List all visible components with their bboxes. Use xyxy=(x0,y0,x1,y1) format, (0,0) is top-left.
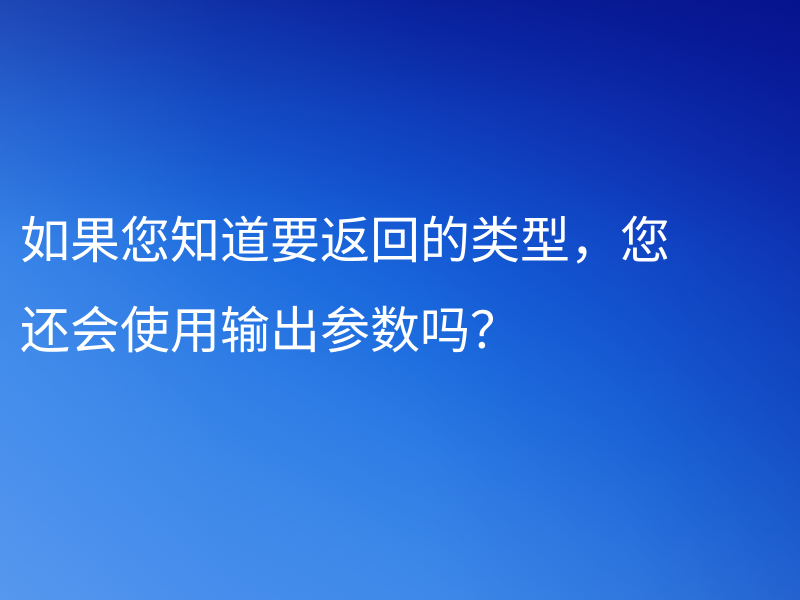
question-card: 如果您知道要返回的类型，您 还会使用输出参数吗？ xyxy=(0,0,800,600)
headline-line-2: 还会使用输出参数吗？ xyxy=(20,286,800,376)
headline-text: 如果您知道要返回的类型，您 还会使用输出参数吗？ xyxy=(20,196,800,376)
headline-line-1: 如果您知道要返回的类型，您 xyxy=(20,196,800,286)
